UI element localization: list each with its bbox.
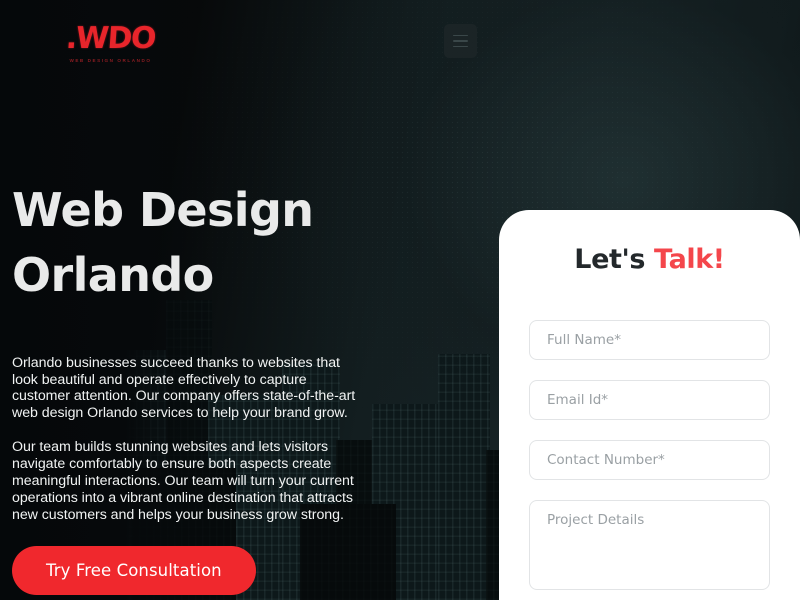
logo-mark-text: .WDO (65, 24, 156, 54)
hero-paragraph-2: Our team builds stunning websites and le… (12, 439, 360, 523)
email-id-input[interactable] (529, 380, 770, 420)
page-title-line-1: Web Design (12, 178, 372, 243)
hamburger-icon-bar-3 (453, 46, 468, 48)
hero-section: .WDO WEB DESIGN ORLANDO Web Design Orlan… (0, 0, 800, 600)
try-free-consultation-button[interactable]: Try Free Consultation (12, 546, 256, 595)
hamburger-icon-bar-1 (453, 35, 468, 37)
form-heading: Let's Talk! (529, 244, 770, 275)
contact-form-card: Let's Talk! (499, 210, 800, 600)
logo[interactable]: .WDO WEB DESIGN ORLANDO (66, 24, 155, 63)
hero-paragraph-1: Orlando businesses succeed thanks to web… (12, 355, 356, 423)
contact-number-input[interactable] (529, 440, 770, 480)
site-header: .WDO WEB DESIGN ORLANDO (0, 0, 800, 82)
logo-tagline-text: WEB DESIGN ORLANDO (69, 58, 151, 63)
hamburger-menu-button[interactable] (444, 24, 477, 58)
form-heading-talk: Talk! (645, 244, 725, 275)
hamburger-icon-bar-2 (453, 40, 468, 42)
page-title-line-2: Orlando (12, 243, 372, 308)
full-name-input[interactable] (529, 320, 770, 360)
project-details-textarea[interactable] (529, 500, 770, 590)
form-heading-lets: Let's (574, 244, 645, 275)
contact-form-fields (529, 320, 770, 590)
hero-content: Web Design Orlando Orlando businesses su… (12, 178, 372, 595)
